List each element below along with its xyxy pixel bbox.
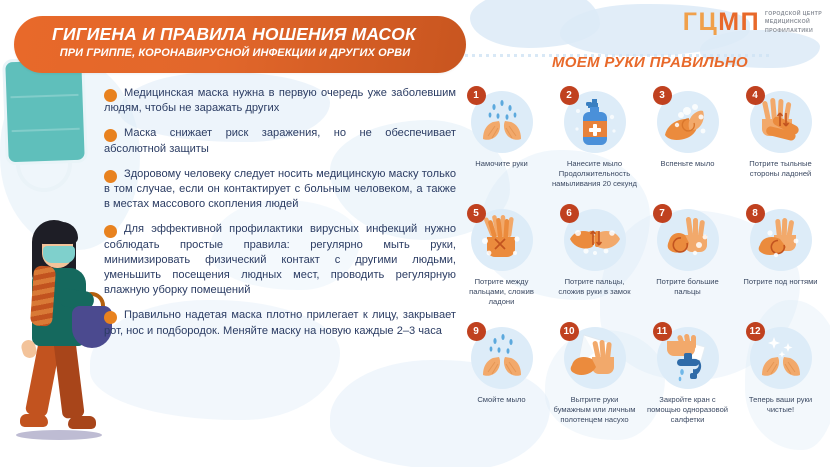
step-icon-circle: 3 — [657, 91, 719, 153]
step-icon-circle: 1 — [471, 91, 533, 153]
logo-letter-4: П — [741, 10, 758, 35]
step-item: 8 — [734, 206, 827, 324]
step-number-badge: 5 — [467, 204, 486, 223]
step-icon-circle: 4 — [750, 91, 812, 153]
bullet-text: Правильно надетая маска плотно прилегает… — [104, 308, 456, 338]
step-caption: Потрите большие пальцы — [641, 277, 734, 297]
step-number-badge: 4 — [746, 86, 765, 105]
step-caption: Вспеньте мыло — [641, 159, 734, 169]
logo-letter-2: Ц — [698, 10, 716, 35]
logo-text-line-3: ПРОФИЛАКТИКИ — [765, 27, 822, 35]
step-item: 4 — [734, 88, 827, 206]
page-subtitle: ПРИ ГРИППЕ, КОРОНАВИРУСНОЙ ИНФЕКЦИИ И ДР… — [14, 47, 456, 59]
logo-text-line-1: ГОРОДСКОЙ ЦЕНТР — [765, 10, 822, 18]
step-icon-circle: 11 — [657, 327, 719, 389]
masked-woman-illustration — [6, 218, 116, 448]
list-item: Правильно надетая маска плотно прилегает… — [104, 308, 456, 338]
logo: Г Ц М П ГОРОДСКОЙ ЦЕНТР МЕДИЦИНСКОЙ ПРОФ… — [683, 10, 822, 35]
woman-scarf — [30, 265, 56, 326]
step-caption: Намочите руки — [455, 159, 548, 169]
step-caption: Потрите тыльные стороны ладоней — [734, 159, 827, 179]
woman-face-mask — [43, 246, 75, 263]
step-item: 12 — [734, 324, 827, 442]
logo-text: ГОРОДСКОЙ ЦЕНТР МЕДИЦИНСКОЙ ПРОФИЛАКТИКИ — [765, 10, 822, 34]
logo-letter-3: М — [718, 10, 738, 35]
mask-rules-list: Медицинская маска нужна в первую очередь… — [104, 86, 456, 349]
list-item: Здоровому человеку следует носить медици… — [104, 167, 456, 213]
step-icon-circle: 9 — [471, 327, 533, 389]
step-number-badge: 7 — [653, 204, 672, 223]
step-item: 10 Вытрите руки бумажн — [548, 324, 641, 442]
step-number-badge: 3 — [653, 86, 672, 105]
step-icon-circle: 8 — [750, 209, 812, 271]
step-item: 3 Вспеньте мыло — [641, 88, 734, 206]
step-item: 11 — [641, 324, 734, 442]
step-caption: Закройте кран с помощью одноразовой салф… — [641, 395, 734, 426]
step-caption: Потрите пальцы, сложив руки в замок — [548, 277, 641, 297]
step-caption: Вытрите руки бумажным или личным полотен… — [548, 395, 641, 426]
bullet-text: Маска снижает риск заражения, но не обес… — [104, 126, 456, 156]
bullet-text: Для эффективной профилактики вирусных ин… — [104, 222, 456, 298]
step-number-badge: 10 — [560, 322, 579, 341]
mask-ear-loop — [16, 160, 72, 192]
bullet-text: Здоровому человеку следует носить медици… — [104, 167, 456, 213]
step-caption: Смойте мыло — [455, 395, 548, 405]
step-number-badge: 2 — [560, 86, 579, 105]
step-item: 9 — [455, 324, 548, 442]
logo-text-line-2: МЕДИЦИНСКОЙ — [765, 18, 822, 26]
step-caption: Нанесите мыло Продолжительность намылива… — [548, 159, 641, 190]
step-icon-circle: 5 — [471, 209, 533, 271]
step-number-badge: 8 — [746, 204, 765, 223]
step-item: 5 — [455, 206, 548, 324]
infographic-poster: ГИГИЕНА И ПРАВИЛА НОШЕНИЯ МАСОК ПРИ ГРИП… — [0, 0, 830, 467]
step-caption: Потрите под ногтями — [734, 277, 827, 287]
step-icon-circle: 7 — [657, 209, 719, 271]
step-icon-circle: 6 — [564, 209, 626, 271]
logo-mark: Г Ц М П — [683, 10, 758, 35]
step-item: 2 — [548, 88, 641, 206]
step-item: 7 — [641, 206, 734, 324]
step-item: 1 — [455, 88, 548, 206]
list-item: Для эффективной профилактики вирусных ин… — [104, 222, 456, 298]
step-icon-circle: 12 — [750, 327, 812, 389]
step-number-badge: 12 — [746, 322, 765, 341]
list-item: Медицинская маска нужна в первую очередь… — [104, 86, 456, 116]
step-number-badge: 6 — [560, 204, 579, 223]
step-icon-circle: 2 — [564, 91, 626, 153]
step-number-badge: 11 — [653, 322, 672, 341]
list-item: Маска снижает риск заражения, но не обес… — [104, 126, 456, 156]
step-number-badge: 9 — [467, 322, 486, 341]
step-caption: Теперь ваши руки чистые! — [734, 395, 827, 415]
handwashing-steps-grid: 1 — [455, 88, 827, 442]
step-caption: Потрите между пальцами, сложив ладони — [455, 277, 548, 308]
bullet-dot-icon — [104, 170, 117, 183]
handwashing-section-title: МОЕМ РУКИ ПРАВИЛЬНО — [470, 54, 830, 71]
bullet-text: Медицинская маска нужна в первую очередь… — [104, 86, 456, 116]
header-banner: ГИГИЕНА И ПРАВИЛА НОШЕНИЯ МАСОК ПРИ ГРИП… — [14, 16, 466, 73]
step-icon-circle: 10 — [564, 327, 626, 389]
step-number-badge: 1 — [467, 86, 486, 105]
step-item: 6 — [548, 206, 641, 324]
page-title: ГИГИЕНА И ПРАВИЛА НОШЕНИЯ МАСОК — [14, 24, 454, 45]
logo-letter-1: Г — [683, 10, 697, 35]
bullet-dot-icon — [104, 89, 117, 102]
